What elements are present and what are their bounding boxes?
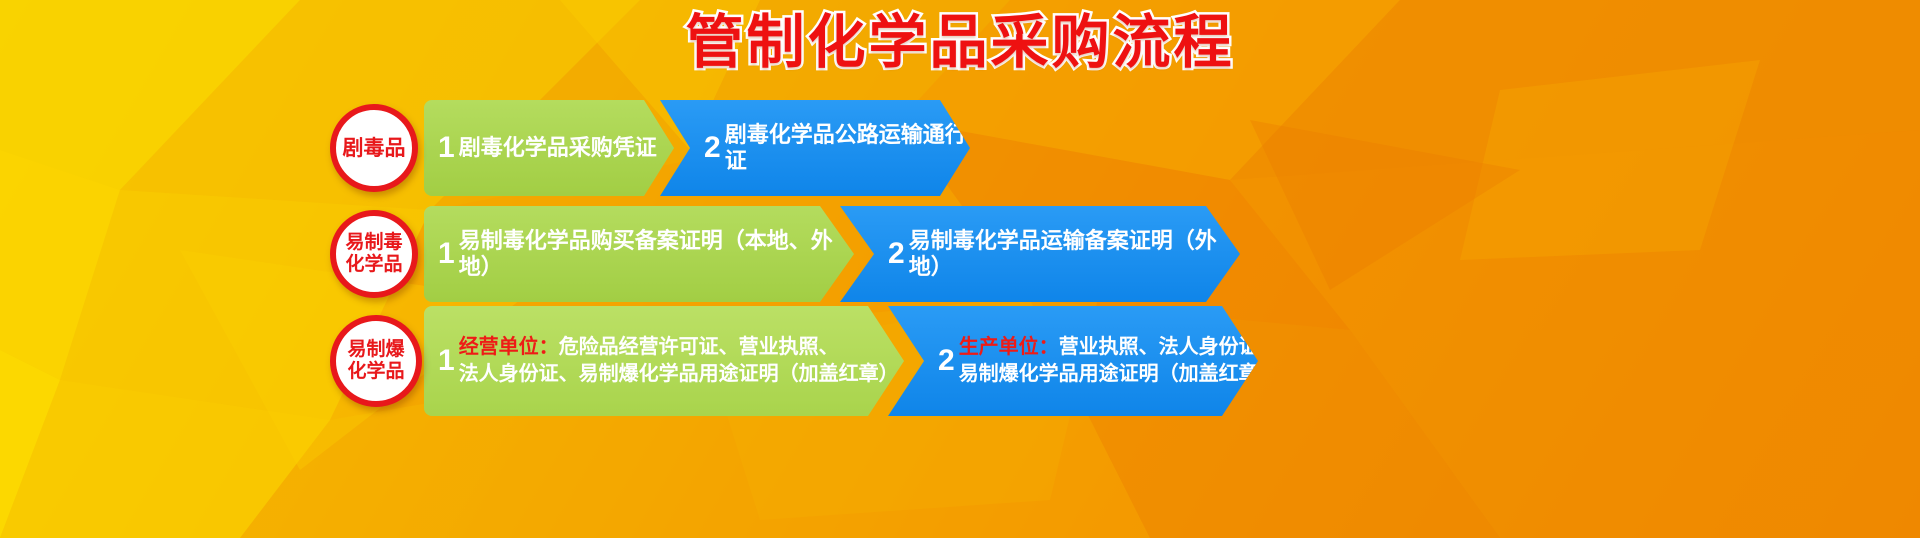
step-label-line-1: 经营单位：危险品经营许可证、营业执照、 [459, 336, 839, 358]
step-label-line-2: 法人身份证、易制爆化学品用途证明（加盖红章） [459, 363, 899, 385]
step-number: 2 [704, 133, 721, 163]
step-label-text-1: 危险品经营许可证、营业执照、 [559, 336, 839, 358]
process-row-2: 易制毒 化学品 1 易制毒化学品购买备案证明（本地、外地） 2 易制毒化学品运输… [0, 206, 1920, 302]
step-label-text-1: 营业执照、法人身份证、 [1059, 336, 1279, 358]
step-label-line-1: 生产单位：营业执照、法人身份证、 [959, 336, 1279, 358]
step-1-2-blue-chevron[interactable]: 2 剧毒化学品公路运输通行证 [660, 100, 970, 196]
page-title-text: 管制化学品采购流程 [685, 8, 1234, 78]
step-3-1-green-chevron[interactable]: 1 经营单位：危险品经营许可证、营业执照、 法人身份证、易制爆化学品用途证明（加… [424, 306, 904, 416]
page-title: 管制化学品采购流程 [0, 8, 1920, 78]
category-badge-1: 剧毒品 [330, 104, 418, 192]
process-row-3: 易制爆 化学品 1 经营单位：危险品经营许可证、营业执照、 法人身份证、易制爆化… [0, 306, 1920, 416]
step-label: 易制毒化学品购买备案证明（本地、外地） [459, 228, 854, 280]
step-lead-label: 生产单位： [959, 336, 1059, 358]
step-number: 1 [438, 346, 455, 376]
step-label-line-2: 易制爆化学品用途证明（加盖红章） [959, 363, 1279, 385]
step-label-block: 经营单位：危险品经营许可证、营业执照、 法人身份证、易制爆化学品用途证明（加盖红… [459, 334, 904, 388]
step-2-2-blue-chevron[interactable]: 2 易制毒化学品运输备案证明（外地） [840, 206, 1240, 302]
category-badge-2: 易制毒 化学品 [330, 210, 418, 298]
category-badge-3-label: 易制爆 化学品 [347, 339, 404, 383]
step-2-1-green-chevron[interactable]: 1 易制毒化学品购买备案证明（本地、外地） [424, 206, 854, 302]
step-number: 1 [438, 133, 455, 163]
step-3-2-blue-chevron[interactable]: 2 生产单位：营业执照、法人身份证、 易制爆化学品用途证明（加盖红章） [888, 306, 1258, 416]
step-number: 1 [438, 239, 455, 269]
step-label-block: 生产单位：营业执照、法人身份证、 易制爆化学品用途证明（加盖红章） [959, 334, 1279, 388]
category-badge-3: 易制爆 化学品 [330, 315, 422, 407]
step-label: 剧毒化学品公路运输通行证 [725, 122, 970, 174]
step-label: 剧毒化学品采购凭证 [459, 135, 657, 161]
infographic-canvas: 管制化学品采购流程 剧毒品 1 剧毒化学品采购凭证 2 剧毒化学品公路运输通行证… [0, 0, 1920, 538]
step-number: 2 [888, 239, 905, 269]
process-row-1: 剧毒品 1 剧毒化学品采购凭证 2 剧毒化学品公路运输通行证 [0, 100, 1920, 196]
step-1-1-green-chevron[interactable]: 1 剧毒化学品采购凭证 [424, 100, 674, 196]
step-lead-label: 经营单位： [459, 336, 559, 358]
category-badge-1-label: 剧毒品 [343, 137, 406, 160]
step-number: 2 [938, 346, 955, 376]
category-badge-2-label: 易制毒 化学品 [345, 232, 402, 276]
step-label: 易制毒化学品运输备案证明（外地） [909, 228, 1240, 280]
